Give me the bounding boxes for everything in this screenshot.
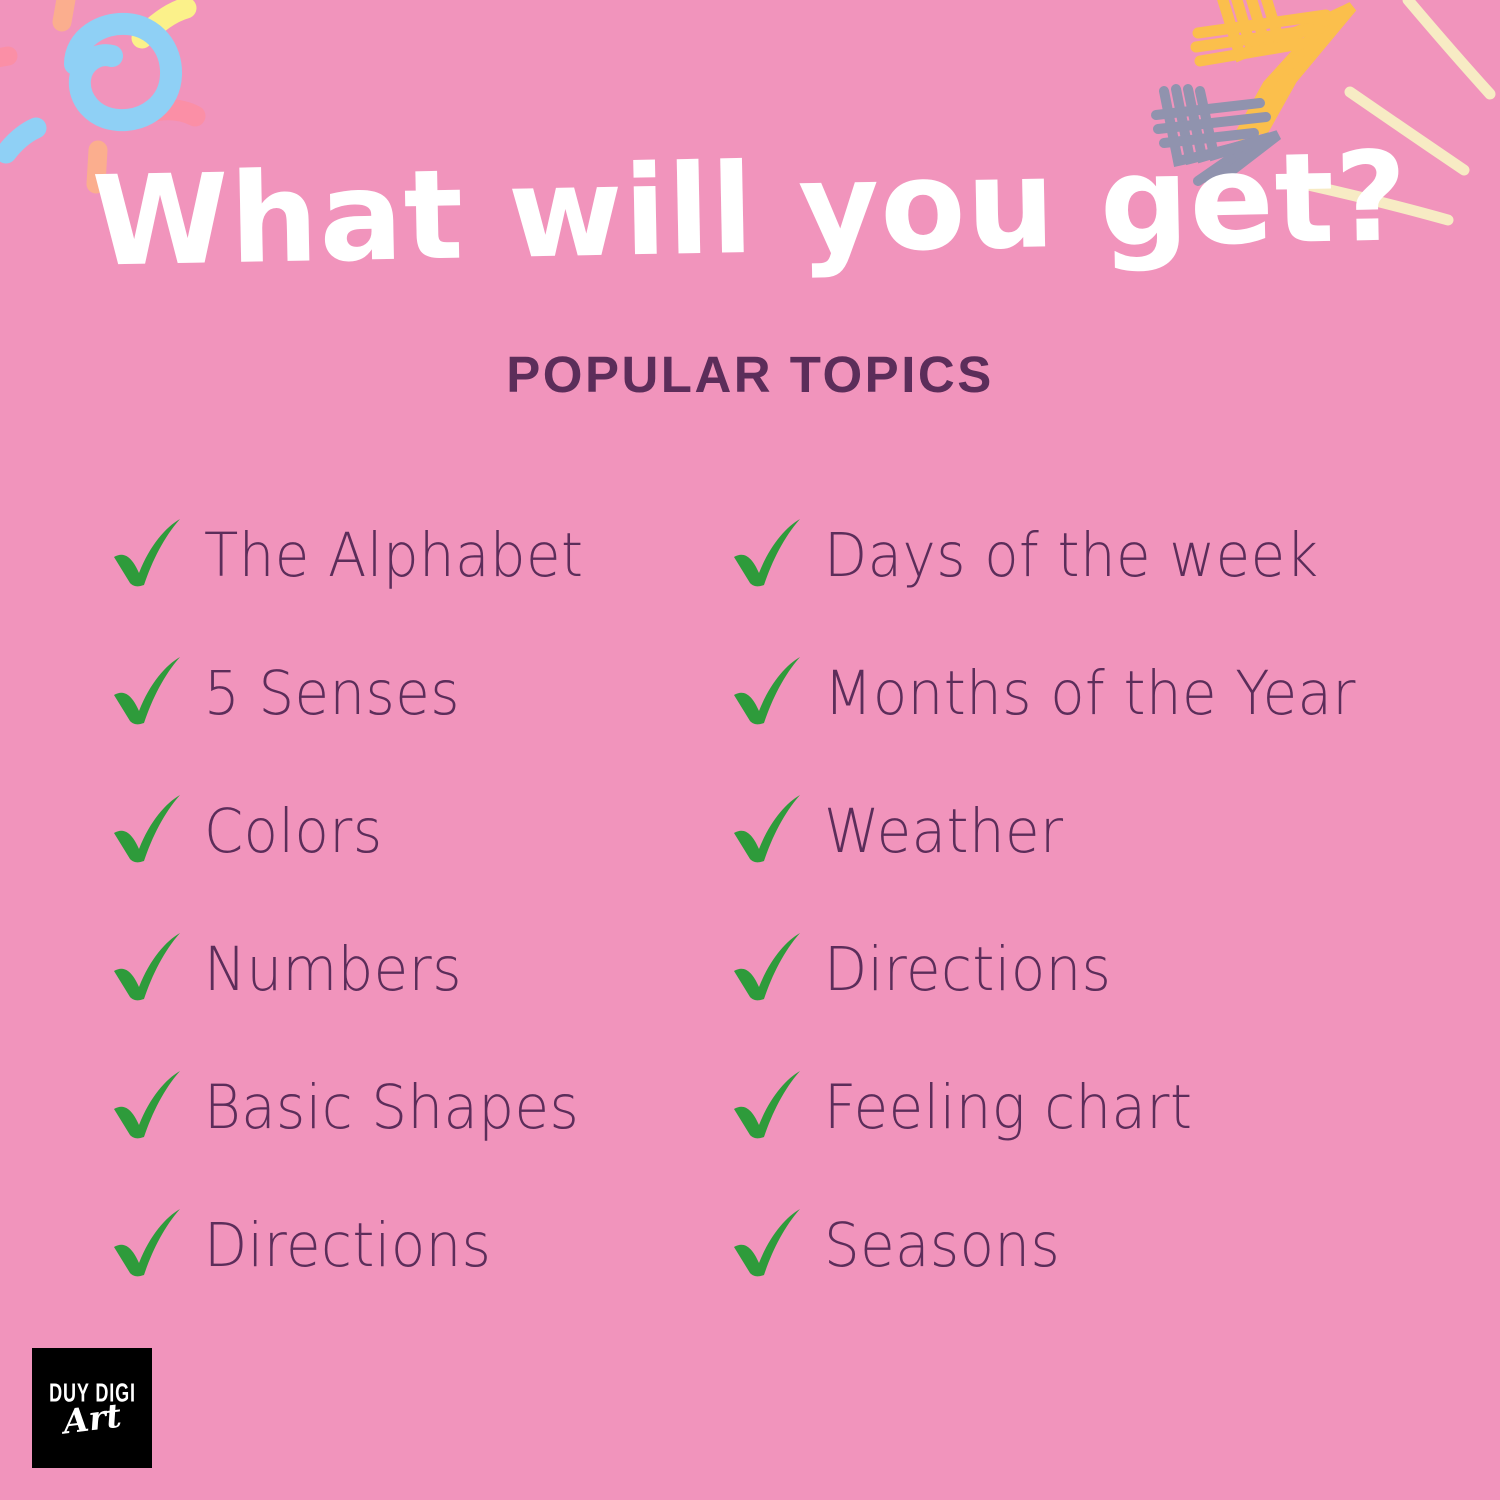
list-item-label: Directions (824, 939, 1111, 1000)
subtitle: POPULAR TOPICS (0, 345, 1500, 404)
page-title: What will you get? (0, 134, 1500, 287)
list-item-label: Directions (204, 1215, 491, 1276)
green-check-icon (728, 515, 806, 595)
poster-canvas: What will you get? POPULAR TOPICS The Al… (0, 0, 1500, 1500)
list-item-label: Basic Shapes (204, 1077, 579, 1138)
list-item-label: 5 Senses (204, 663, 460, 724)
list-item-label: Numbers (204, 939, 462, 1000)
brand-logo[interactable]: DUY DIGI Art (32, 1348, 152, 1468)
sun-ray-peach-top (62, 0, 68, 22)
green-check-icon (108, 1205, 186, 1285)
list-item[interactable]: Colors (108, 762, 728, 900)
list-item[interactable]: Days of the week (728, 486, 1348, 624)
sun-ray-yellow (142, 8, 186, 38)
green-check-icon (728, 929, 806, 1009)
green-check-icon (728, 1205, 806, 1285)
logo-script-text: Art (61, 1401, 122, 1438)
list-item-label: Days of the week (824, 525, 1319, 586)
green-check-icon (108, 791, 186, 871)
list-item-label: Seasons (824, 1215, 1060, 1276)
list-item-label: Months of the Year (824, 663, 1356, 724)
topics-columns: The Alphabet 5 Senses Colors Numbers (108, 486, 1428, 1314)
green-check-icon (728, 653, 806, 733)
topics-left-column: The Alphabet 5 Senses Colors Numbers (108, 486, 728, 1314)
list-item[interactable]: The Alphabet (108, 486, 728, 624)
green-check-icon (728, 1067, 806, 1147)
green-check-icon (728, 791, 806, 871)
sun-ray-pink-left (0, 56, 8, 62)
list-item[interactable]: 5 Senses (108, 624, 728, 762)
green-check-icon (108, 929, 186, 1009)
list-item[interactable]: Seasons (728, 1176, 1348, 1314)
list-item-label: The Alphabet (204, 525, 583, 586)
green-check-icon (108, 653, 186, 733)
sun-ray-blue-bottomleft (6, 128, 36, 153)
list-item[interactable]: Numbers (108, 900, 728, 1038)
sun-ray-pink-right (150, 110, 195, 116)
list-item[interactable]: Months of the Year (728, 624, 1348, 762)
green-check-icon (108, 1067, 186, 1147)
list-item[interactable]: Feeling chart (728, 1038, 1348, 1176)
topics-right-column: Days of the week Months of the Year Weat… (728, 486, 1348, 1314)
list-item[interactable]: Basic Shapes (108, 1038, 728, 1176)
list-item-label: Feeling chart (824, 1077, 1192, 1138)
list-item[interactable]: Weather (728, 762, 1348, 900)
sun-spiral-stroke (75, 24, 171, 120)
list-item[interactable]: Directions (108, 1176, 728, 1314)
green-check-icon (108, 515, 186, 595)
yellow-scribble-star (1196, 0, 1352, 135)
streak-line-1 (1408, 0, 1490, 94)
page-title-text: What will you get? (91, 135, 1409, 284)
list-item[interactable]: Directions (728, 900, 1348, 1038)
list-item-label: Colors (204, 801, 383, 862)
list-item-label: Weather (824, 801, 1064, 862)
